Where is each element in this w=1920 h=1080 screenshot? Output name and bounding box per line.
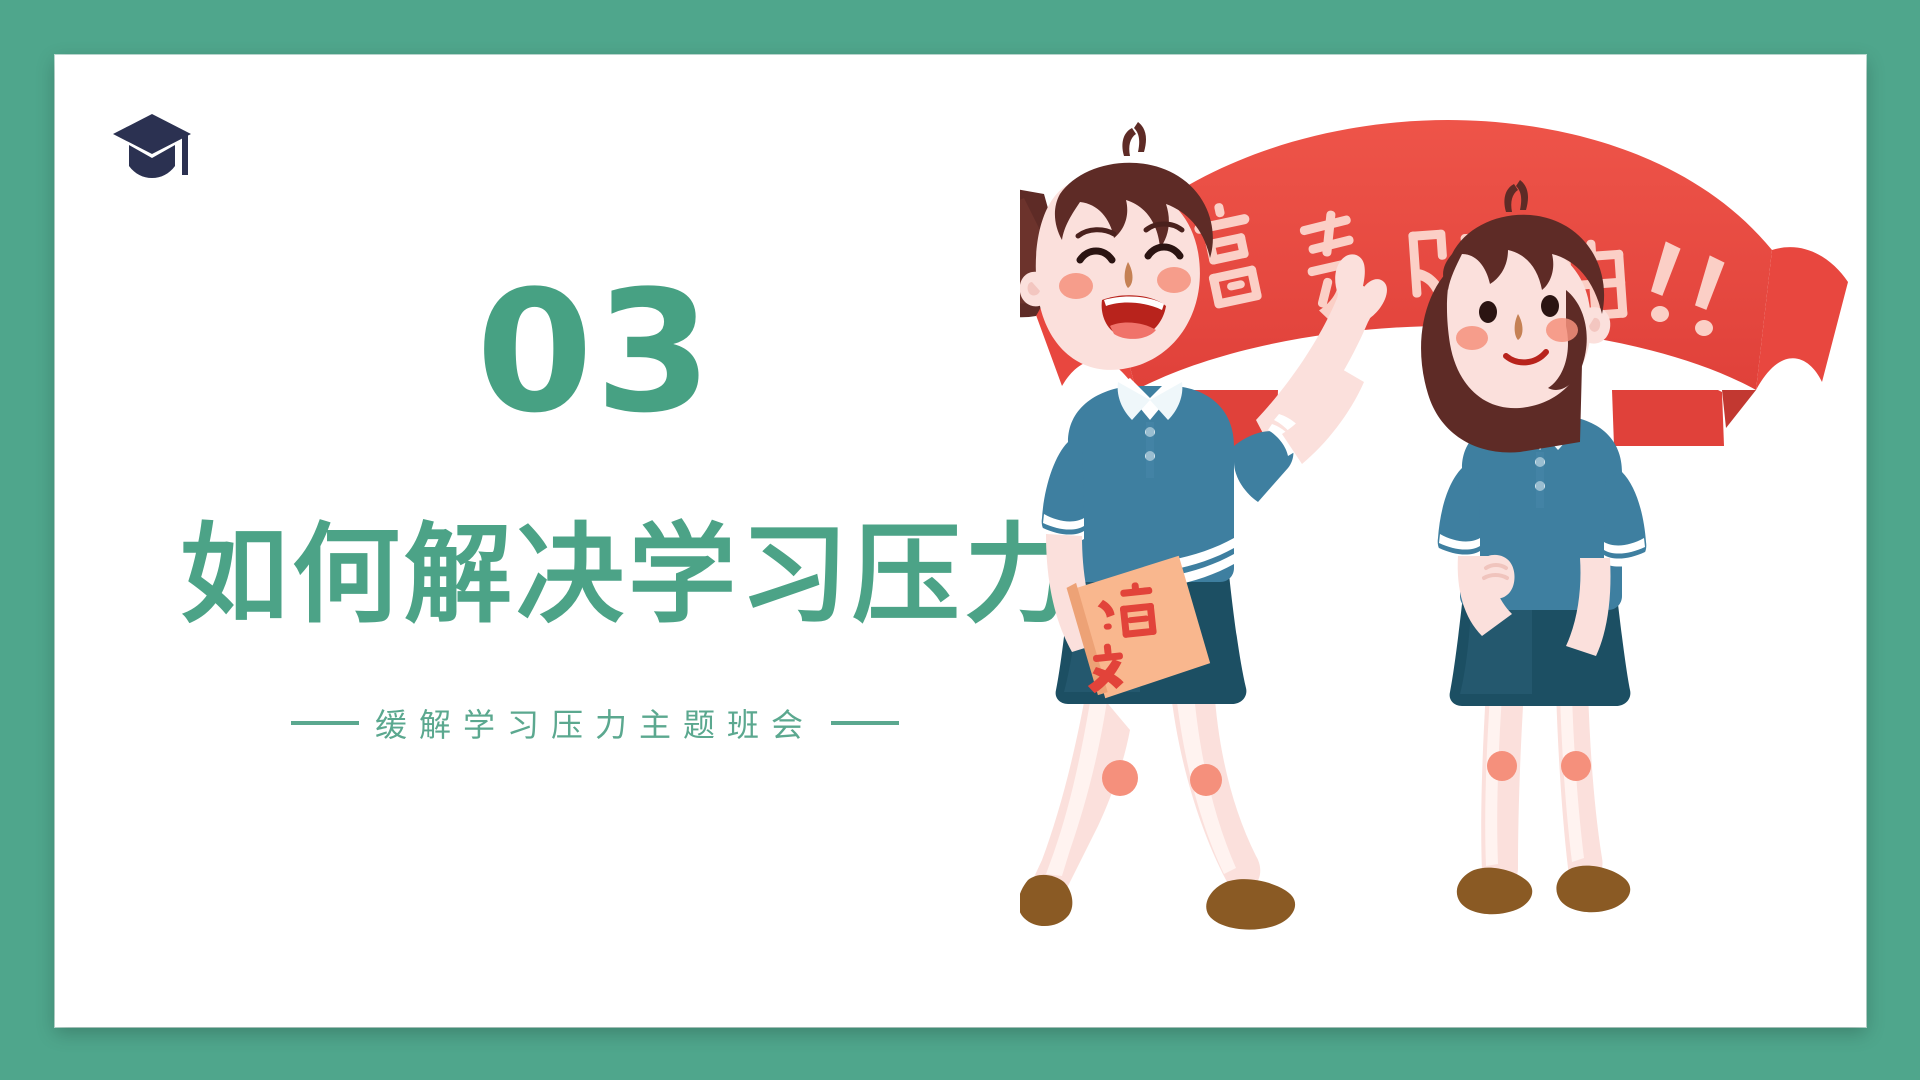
section-number-block: 03 (180, 268, 1010, 436)
knee-dot (1561, 751, 1591, 781)
subtitle-rule-right (831, 721, 899, 725)
section-number: 03 (180, 268, 1010, 436)
students-illustration (1020, 90, 1870, 1000)
page-title: 如何解决学习压力 (180, 516, 1010, 637)
subtitle-rule-left (291, 721, 359, 725)
subtitle-text: 缓解学习压力主题班会 (375, 700, 815, 746)
knee-dot (1190, 764, 1222, 796)
subtitle-block: 缓解学习压力主题班会 (180, 700, 1010, 746)
graduation-cap-icon (112, 112, 192, 184)
slide-root: 03 如何解决学习压力 缓解学习压力主题班会 (0, 0, 1920, 1080)
knee-dot (1487, 751, 1517, 781)
knee-dot (1102, 760, 1138, 796)
